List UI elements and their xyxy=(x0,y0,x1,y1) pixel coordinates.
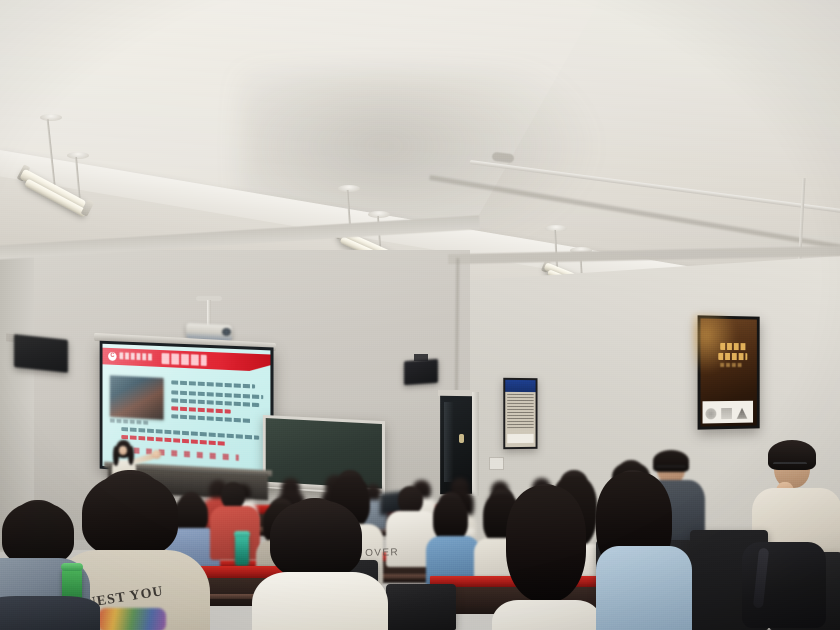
poster-headline-line xyxy=(720,343,747,350)
poster-subtext xyxy=(720,363,741,367)
wall-speaker-right xyxy=(404,359,438,385)
light-ceiling-mount xyxy=(338,185,360,192)
glasses-icon xyxy=(773,462,807,470)
slide-photo-caption xyxy=(110,418,148,424)
light-switch-plate[interactable] xyxy=(489,457,504,470)
light-ceiling-mount xyxy=(40,114,62,121)
door-handle-icon[interactable] xyxy=(459,434,464,443)
light-ceiling-mount xyxy=(67,152,89,159)
water-bottle-cap xyxy=(234,531,250,537)
water-bottle-teal xyxy=(235,534,249,566)
slide-body-line xyxy=(171,398,259,407)
notice-board xyxy=(503,378,537,449)
slide-body-line xyxy=(171,390,263,399)
chair[interactable] xyxy=(386,584,456,630)
presenter-hair xyxy=(128,446,134,465)
door-jamb xyxy=(472,392,479,496)
slide-body-line xyxy=(171,414,251,423)
shirt-graphic xyxy=(98,608,166,630)
foreground-shoulder xyxy=(0,596,100,630)
presenter-hand xyxy=(152,450,161,459)
projector-lens-icon xyxy=(222,328,231,336)
slide-logo-wordmark xyxy=(119,352,153,360)
classroom-photo: C xyxy=(0,0,840,630)
projector-mount-pole xyxy=(207,300,211,326)
wall-speaker-left xyxy=(14,334,68,373)
presenter-face xyxy=(119,446,127,455)
poster-logo-icon xyxy=(721,408,732,419)
notice-board-header xyxy=(505,380,535,392)
glasses-icon xyxy=(656,466,686,472)
slide-logo-icon: C xyxy=(108,352,116,361)
water-bottle-cap xyxy=(61,563,83,571)
wall-poster xyxy=(698,315,760,429)
slide-body-line xyxy=(171,380,255,388)
presenter-hair xyxy=(113,446,119,466)
slide-body-line-accent xyxy=(171,406,230,413)
poster-headline-line xyxy=(718,353,747,360)
notice-board-text xyxy=(507,394,533,430)
door-inner-light xyxy=(444,402,454,482)
notice-board-footer xyxy=(507,434,533,443)
slide-title-text xyxy=(162,353,207,366)
light-ceiling-mount xyxy=(368,211,390,218)
slide-photo xyxy=(110,375,164,419)
